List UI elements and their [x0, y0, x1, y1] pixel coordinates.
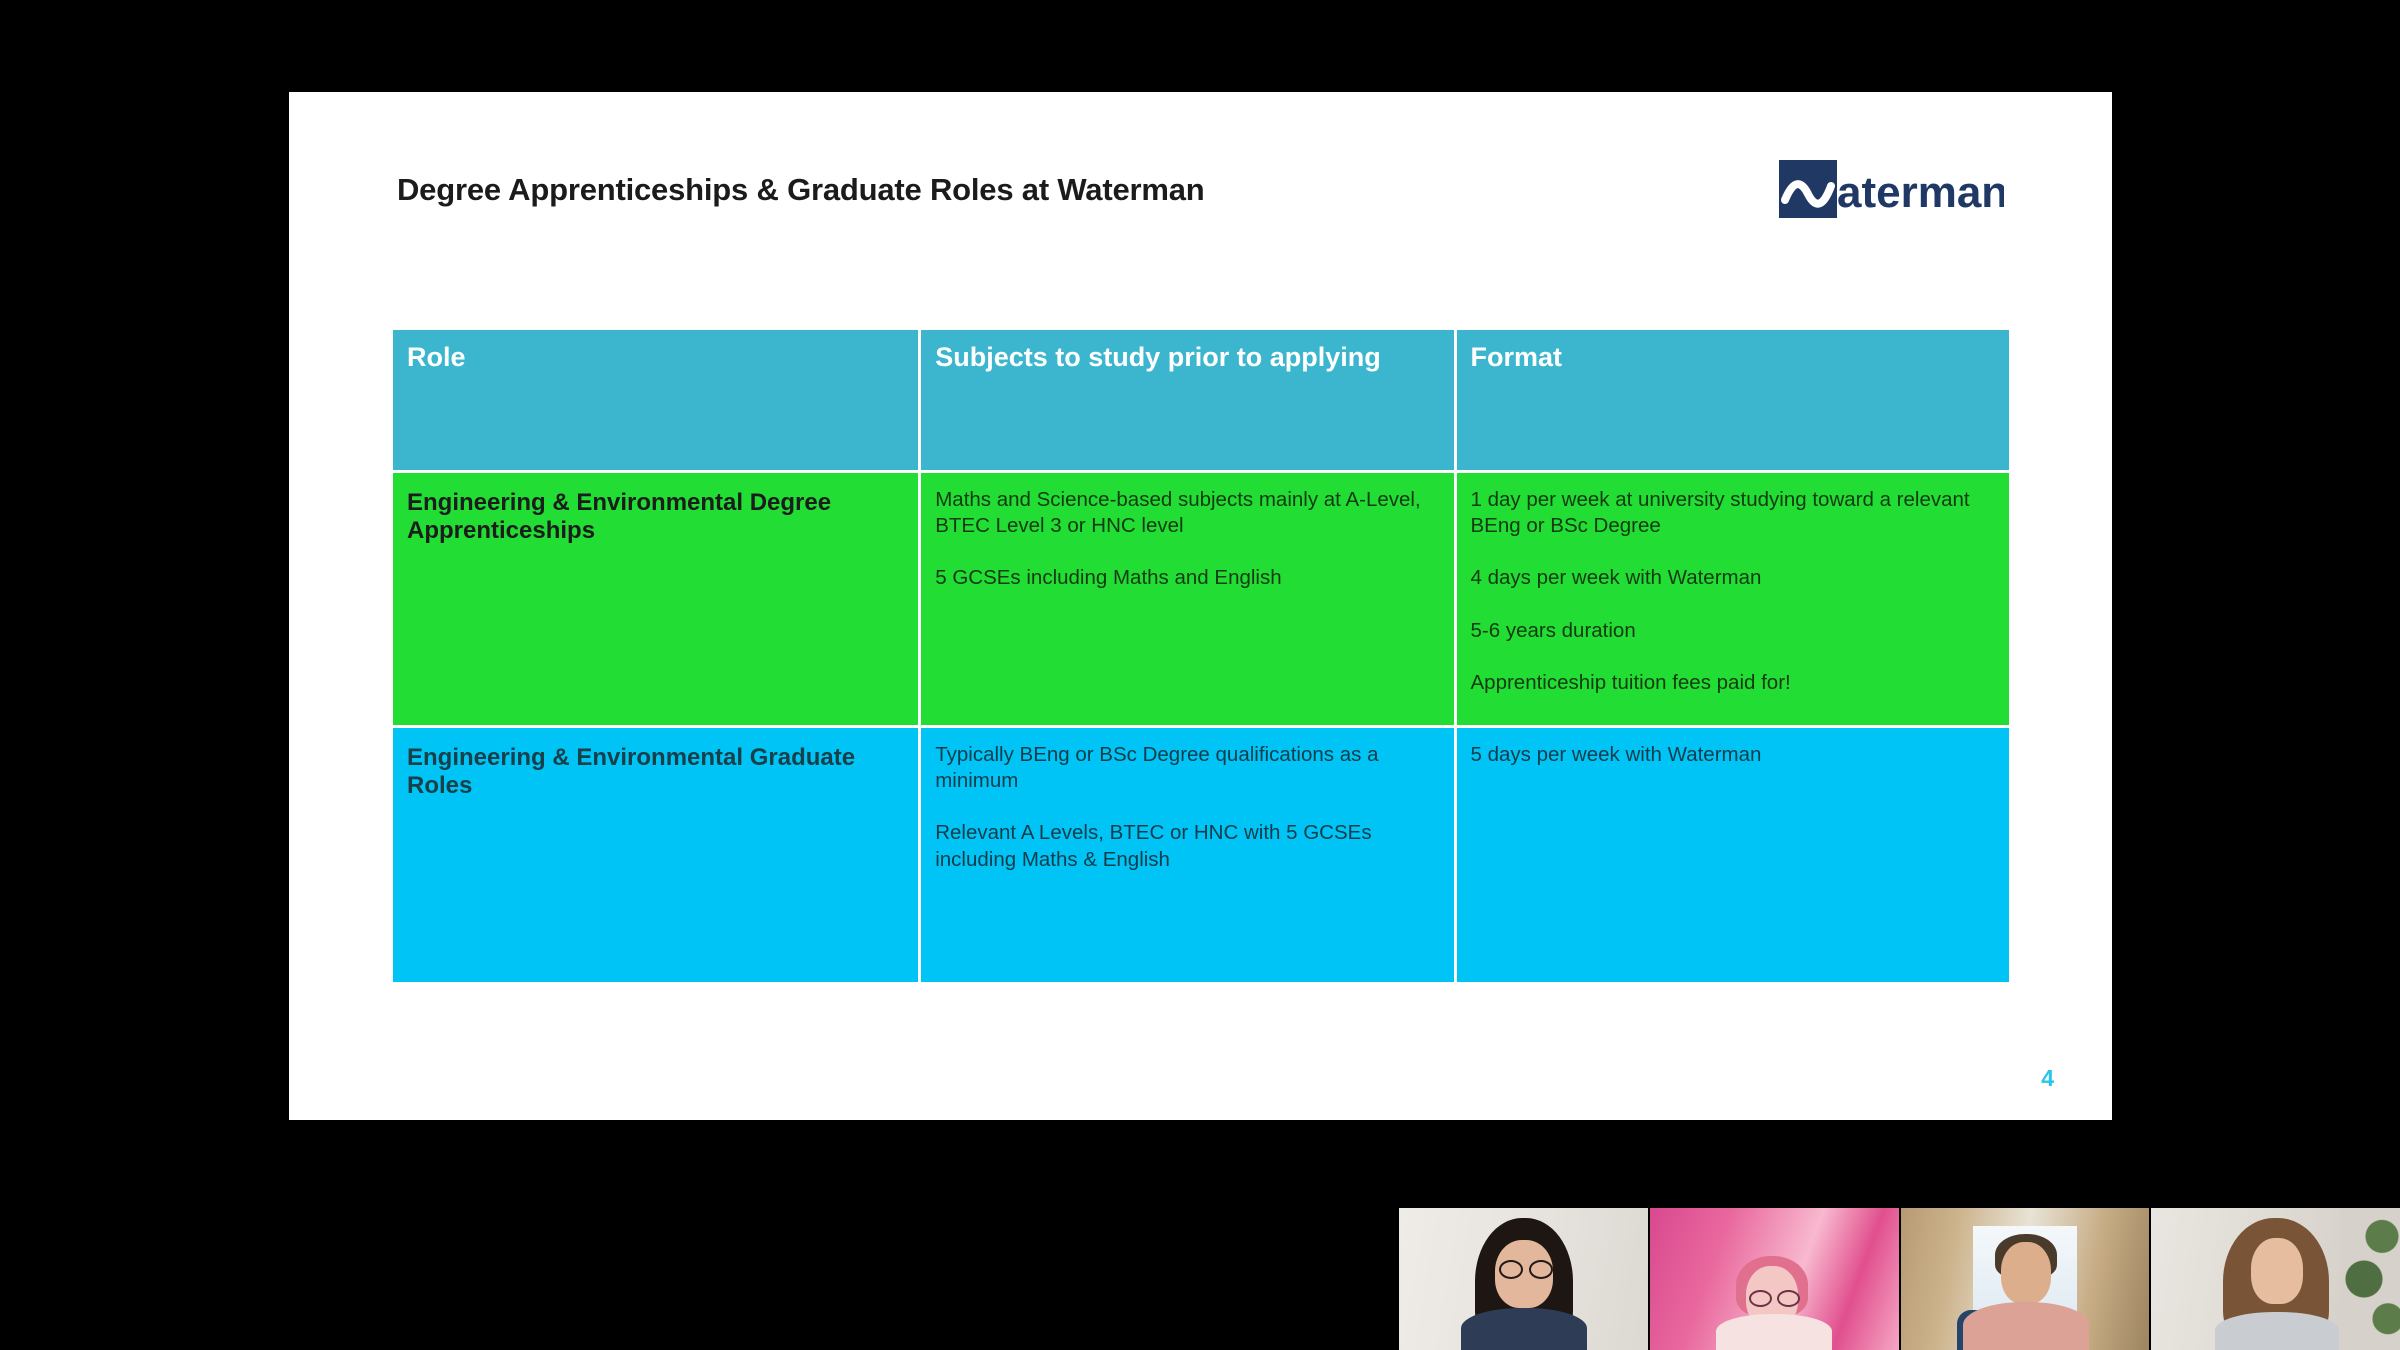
participant-tile-1[interactable]: [1399, 1208, 1648, 1350]
avatar: [1716, 1314, 1832, 1350]
column-header-label: Role: [407, 342, 902, 373]
subjects-paragraph: Maths and Science-based subjects mainly …: [935, 487, 1437, 539]
avatar: [1461, 1308, 1587, 1350]
column-header-label: Subjects to study prior to applying: [935, 342, 1437, 373]
table-header-row: Role Subjects to study prior to applying…: [393, 330, 2009, 470]
avatar: [2251, 1238, 2303, 1304]
glasses-icon: [1499, 1260, 1523, 1279]
role-label: Engineering & Environmental Graduate Rol…: [407, 742, 902, 801]
role-label: Engineering & Environmental Degree Appre…: [407, 487, 902, 546]
format-paragraph: 5-6 years duration: [1471, 618, 1994, 644]
format-paragraph: 1 day per week at university studying to…: [1471, 487, 1994, 539]
table-header-cell-format: Format: [1457, 330, 2010, 470]
format-paragraph: Apprenticeship tuition fees paid for!: [1471, 670, 1994, 696]
subjects-paragraph: Relevant A Levels, BTEC or HNC with 5 GC…: [935, 820, 1437, 872]
slide-canvas: Degree Apprenticeships & Graduate Roles …: [289, 92, 2112, 1120]
format-cell: 1 day per week at university studying to…: [1457, 473, 2010, 725]
avatar: [2215, 1312, 2339, 1350]
subjects-cell: Maths and Science-based subjects mainly …: [921, 473, 1453, 725]
column-header-label: Format: [1471, 342, 1994, 373]
format-cell: 5 days per week with Waterman: [1457, 728, 2010, 982]
subjects-paragraph: 5 GCSEs including Maths and English: [935, 565, 1437, 591]
avatar: [1963, 1302, 2089, 1350]
role-cell: Engineering & Environmental Graduate Rol…: [393, 728, 918, 982]
participant-tile-2[interactable]: [1650, 1208, 1899, 1350]
page-title: Degree Apprenticeships & Graduate Roles …: [397, 172, 1205, 208]
table-row: Engineering & Environmental Degree Appre…: [393, 473, 2009, 725]
glasses-icon: [1529, 1260, 1553, 1279]
format-list: 5 days per week with Waterman: [1471, 742, 1994, 768]
participant-tile-3[interactable]: [1901, 1208, 2150, 1350]
plant-decoration: [2340, 1208, 2400, 1350]
format-list: 1 day per week at university studying to…: [1471, 487, 1994, 696]
svg-text:aterman: aterman: [1837, 168, 2004, 217]
waterman-logo: aterman: [1779, 160, 2004, 222]
role-cell: Engineering & Environmental Degree Appre…: [393, 473, 918, 725]
subjects-list: Maths and Science-based subjects mainly …: [935, 487, 1437, 592]
presentation-stage: Degree Apprenticeships & Graduate Roles …: [0, 0, 2400, 1350]
participant-tile-4[interactable]: [2151, 1208, 2400, 1350]
glasses-icon: [1777, 1290, 1800, 1307]
slide-number: 4: [2041, 1065, 2054, 1092]
table-header-cell-role: Role: [393, 330, 918, 470]
format-paragraph: 5 days per week with Waterman: [1471, 742, 1994, 768]
participant-video-strip: [1399, 1208, 2400, 1350]
format-paragraph: 4 days per week with Waterman: [1471, 565, 1994, 591]
glasses-icon: [1749, 1290, 1772, 1307]
table-header-cell-subjects: Subjects to study prior to applying: [921, 330, 1453, 470]
avatar: [2001, 1242, 2051, 1304]
subjects-cell: Typically BEng or BSc Degree qualificati…: [921, 728, 1453, 982]
subjects-list: Typically BEng or BSc Degree qualificati…: [935, 742, 1437, 873]
roles-table: Role Subjects to study prior to applying…: [390, 327, 2012, 985]
subjects-paragraph: Typically BEng or BSc Degree qualificati…: [935, 742, 1437, 794]
table-row: Engineering & Environmental Graduate Rol…: [393, 728, 2009, 982]
